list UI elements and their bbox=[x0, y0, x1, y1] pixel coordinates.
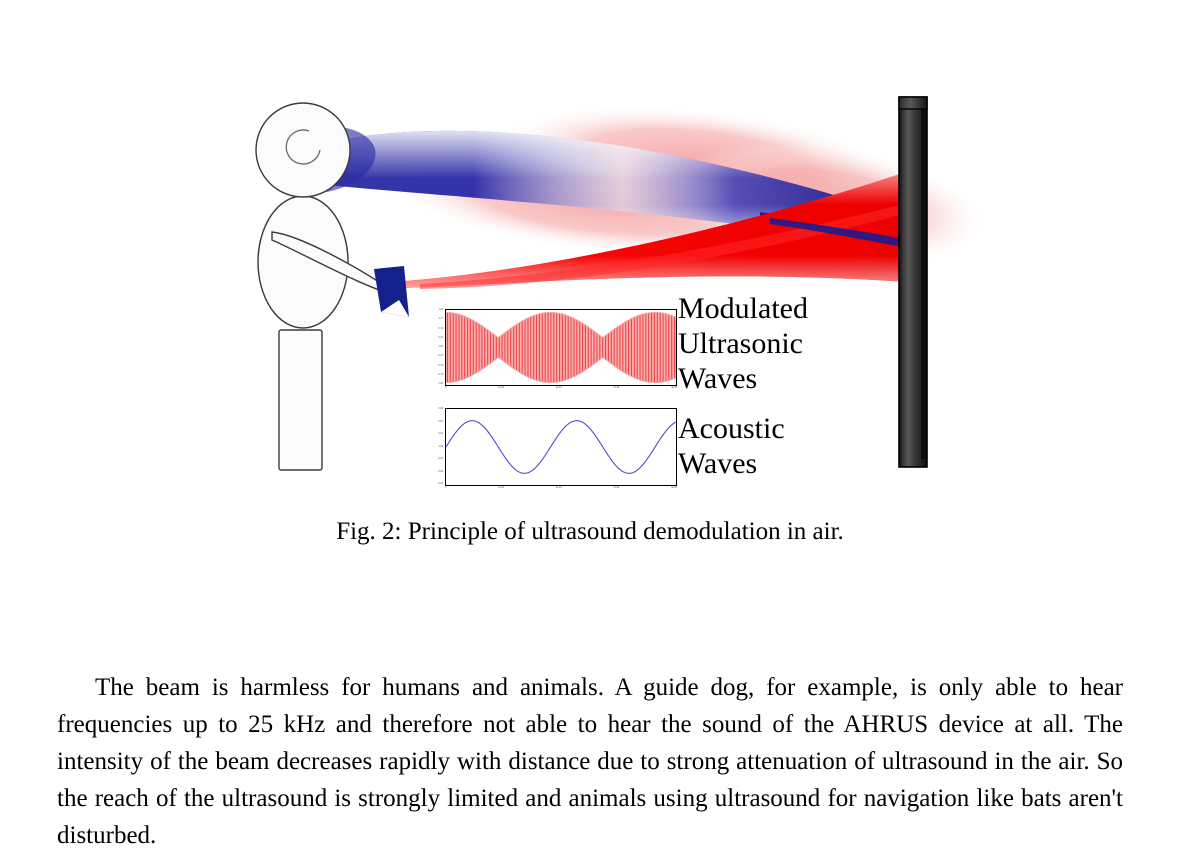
modulated-label-line-2: Ultrasonic bbox=[678, 326, 808, 361]
tick-label: 1.00 bbox=[438, 309, 443, 312]
tick-label: 0 bbox=[445, 387, 446, 390]
acoustic-waves-label: Acoustic Waves bbox=[678, 411, 785, 481]
chart-modulated-ultrasonic-waves bbox=[445, 309, 677, 386]
tick-label: -1.00 bbox=[438, 383, 443, 386]
tick-label: 0 bbox=[445, 487, 446, 490]
tick-label: -0.04 bbox=[438, 471, 443, 474]
tick-label: 0.06 bbox=[438, 408, 443, 411]
acoustic-chart-y-ticks: 0.060.040.020.00-0.02-0.04-0.06 bbox=[428, 408, 443, 486]
am-carrier-series bbox=[446, 312, 676, 382]
wall-panel bbox=[899, 97, 927, 467]
paragraph-line-5: the ultrasound is strongly limited and a… bbox=[184, 785, 969, 812]
tick-label: -0.06 bbox=[438, 483, 443, 486]
tick-label: -0.75 bbox=[438, 374, 443, 377]
tick-label: 0.25 bbox=[438, 337, 443, 340]
modulated-chart-y-ticks: 1.000.750.500.250.00-0.25-0.50-0.75-1.00 bbox=[428, 309, 443, 386]
person-head bbox=[256, 103, 350, 197]
acoustic-sine-series bbox=[446, 421, 676, 474]
tick-label: 0.00 bbox=[438, 446, 443, 449]
tick-label: 1e-04 bbox=[498, 387, 504, 390]
tick-label: 3e-04 bbox=[613, 487, 619, 490]
modulated-chart-x-ticks: 01e-042e-043e-044e-04 bbox=[445, 387, 677, 390]
paragraph-line-1: The beam is harmless for humans and anim… bbox=[95, 674, 898, 701]
modulated-label-line-3: Waves bbox=[678, 361, 808, 396]
modulated-label-line-1: Modulated bbox=[678, 291, 808, 326]
tick-label: 0.50 bbox=[438, 328, 443, 331]
tick-label: 1e-04 bbox=[498, 487, 504, 490]
acoustic-label-line-2: Waves bbox=[678, 446, 785, 481]
tick-label: 4e-04 bbox=[671, 387, 677, 390]
chart-acoustic-waves bbox=[445, 408, 677, 486]
body-paragraph: The beam is harmless for humans and anim… bbox=[57, 669, 1123, 854]
figure-2: 1.000.750.500.250.00-0.25-0.50-0.75-1.00… bbox=[0, 0, 1180, 505]
tick-label: 0.04 bbox=[438, 421, 443, 424]
tick-label: -0.25 bbox=[438, 355, 443, 358]
figure-caption: Fig. 2: Principle of ultrasound demodula… bbox=[0, 517, 1180, 547]
tick-label: 2e-04 bbox=[556, 387, 562, 390]
tick-label: 0.02 bbox=[438, 433, 443, 436]
tick-label: 4e-04 bbox=[671, 487, 677, 490]
tick-label: -0.02 bbox=[438, 458, 443, 461]
person-legs bbox=[279, 330, 322, 470]
tick-label: -0.50 bbox=[438, 365, 443, 368]
tick-label: 0.00 bbox=[438, 346, 443, 349]
acoustic-chart-x-ticks: 01e-042e-043e-044e-04 bbox=[445, 487, 677, 490]
tick-label: 2e-04 bbox=[556, 487, 562, 490]
tick-label: 0.75 bbox=[438, 318, 443, 321]
acoustic-waveform-plot bbox=[446, 409, 676, 485]
modulated-waveform-plot bbox=[446, 310, 676, 385]
acoustic-label-line-1: Acoustic bbox=[678, 411, 785, 446]
tick-label: 3e-04 bbox=[613, 387, 619, 390]
modulated-waves-label: Modulated Ultrasonic Waves bbox=[678, 291, 808, 396]
